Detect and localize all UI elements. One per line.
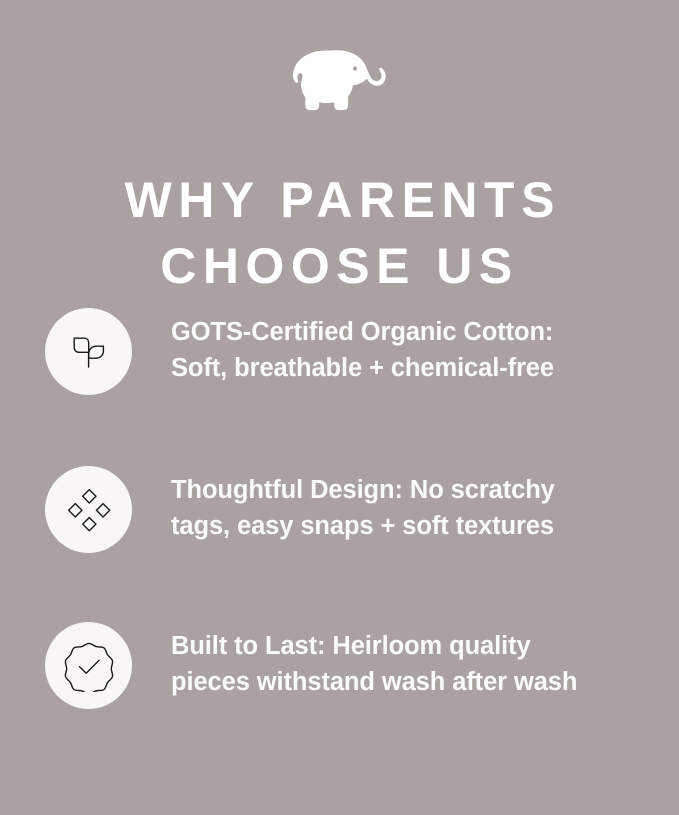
feature-item-thoughtful-design: Thoughtful Design: No scratchy tags, eas…	[0, 458, 679, 614]
feature-line-2: tags, easy snaps + soft textures	[171, 508, 639, 544]
brand-logo	[0, 34, 679, 114]
feature-item-organic-cotton: GOTS-Certified Organic Cotton: Soft, bre…	[0, 300, 679, 458]
feature-text-organic-cotton: GOTS-Certified Organic Cotton: Soft, bre…	[171, 314, 639, 386]
page-title: WHY PARENTS CHOOSE US	[0, 167, 679, 299]
elephant-icon	[288, 37, 392, 111]
feature-item-built-to-last: Built to Last: Heirloom quality pieces w…	[0, 614, 679, 770]
feature-line-1: GOTS-Certified Organic Cotton:	[171, 314, 639, 350]
sprout-icon	[67, 330, 111, 374]
feature-line-1: Thoughtful Design: No scratchy	[171, 472, 639, 508]
feature-text-thoughtful-design: Thoughtful Design: No scratchy tags, eas…	[171, 472, 639, 544]
scalloped-check-badge-icon	[63, 640, 115, 692]
snap-icon-badge	[45, 466, 132, 553]
four-diamonds-snap-icon	[66, 487, 112, 533]
feature-line-1: Built to Last: Heirloom quality	[171, 628, 639, 664]
quality-badge-icon-badge	[45, 622, 132, 709]
feature-line-2: Soft, breathable + chemical-free	[171, 350, 639, 386]
feature-list: GOTS-Certified Organic Cotton: Soft, bre…	[0, 300, 679, 770]
sprout-icon-badge	[45, 308, 132, 395]
why-parents-choose-us-panel: WHY PARENTS CHOOSE US GOTS-Certified Org…	[0, 0, 679, 815]
feature-text-built-to-last: Built to Last: Heirloom quality pieces w…	[171, 628, 639, 700]
feature-line-2: pieces withstand wash after wash	[171, 664, 639, 700]
